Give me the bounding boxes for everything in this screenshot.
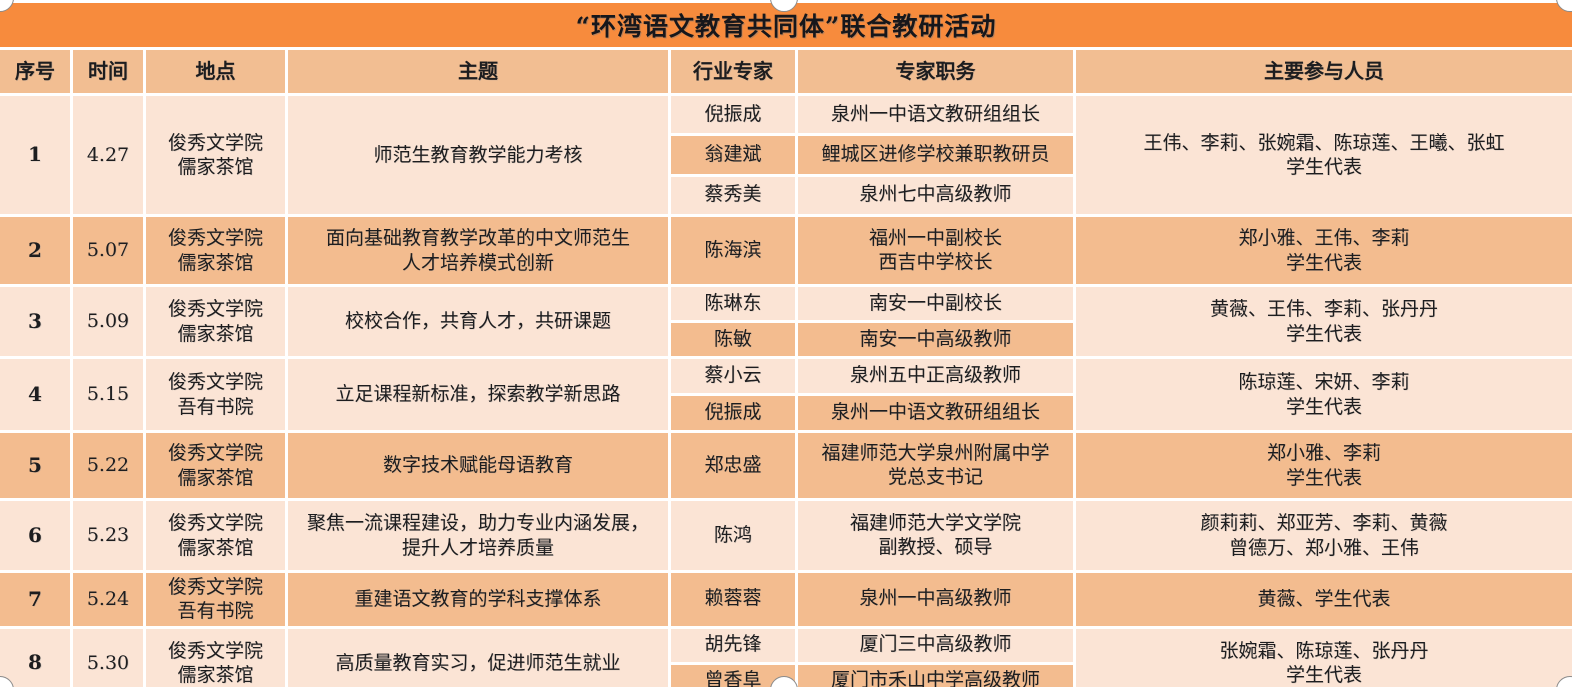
cell-participants[interactable]: 颜莉莉、郑亚芳、李莉、黄薇曾德万、郑小雅、王伟 — [1076, 501, 1572, 570]
cell-position: 福建师范大学泉州附属中学党总支书记 — [798, 433, 1073, 498]
table-row[interactable]: 35.09俊秀文学院儒家茶馆校校合作，共育人才，共研课题陈琳东陈敏南安一中副校长… — [0, 287, 1572, 356]
cell-time[interactable]: 4.27 — [73, 96, 143, 214]
cell-participants[interactable]: 王伟、李莉、张婉霜、陈琼莲、王曦、张虹学生代表 — [1076, 96, 1572, 214]
cell-topic[interactable]: 面向基础教育教学改革的中文师范生人才培养模式创新 — [288, 217, 668, 284]
cell-position: 南安一中副校长南安一中高级教师 — [798, 287, 1073, 356]
cell-topic[interactable]: 师范生教育教学能力考核 — [288, 96, 668, 214]
table-row[interactable]: 25.07俊秀文学院儒家茶馆面向基础教育教学改革的中文师范生人才培养模式创新陈海… — [0, 217, 1572, 284]
cell-no[interactable]: 5 — [0, 433, 70, 498]
cell-topic[interactable]: 高质量教育实习，促进师范生就业 — [288, 629, 668, 687]
cell-position-item[interactable]: 福州一中副校长西吉中学校长 — [798, 217, 1073, 284]
cell-expert-item[interactable]: 倪振成 — [671, 96, 795, 133]
cell-position-item[interactable]: 福建师范大学泉州附属中学党总支书记 — [798, 433, 1073, 498]
cell-position-item[interactable]: 泉州七中高级教师 — [798, 177, 1073, 214]
cell-position: 泉州一中语文教研组组长鲤城区进修学校兼职教研员泉州七中高级教师 — [798, 96, 1073, 214]
cell-no[interactable]: 8 — [0, 629, 70, 687]
cell-place[interactable]: 俊秀文学院吾有书院 — [146, 573, 285, 626]
cell-topic[interactable]: 聚焦一流课程建设，助力专业内涵发展，提升人才培养质量 — [288, 501, 668, 570]
cell-expert-item[interactable]: 倪振成 — [671, 396, 795, 430]
cell-no[interactable]: 6 — [0, 501, 70, 570]
spreadsheet-table-object: “环湾语文教育共同体”联合教研活动 序号时间地点主题行业专家专家职务主要参与人员… — [0, 0, 1572, 687]
cell-expert: 郑忠盛 — [671, 433, 795, 498]
cell-expert-item[interactable]: 蔡小云 — [671, 359, 795, 393]
cell-position-item[interactable]: 厦门市禾山中学高级教师 — [798, 665, 1073, 687]
cell-expert-item[interactable]: 陈鸿 — [671, 501, 795, 570]
cell-place[interactable]: 俊秀文学院儒家茶馆 — [146, 217, 285, 284]
cell-place[interactable]: 俊秀文学院吾有书院 — [146, 359, 285, 430]
cell-position-item[interactable]: 福建师范大学文学院副教授、硕导 — [798, 501, 1073, 570]
table-header-row: 序号时间地点主题行业专家专家职务主要参与人员 — [0, 50, 1572, 93]
cell-position: 福州一中副校长西吉中学校长 — [798, 217, 1073, 284]
cell-place[interactable]: 俊秀文学院儒家茶馆 — [146, 501, 285, 570]
cell-position-item[interactable]: 南安一中副校长 — [798, 287, 1073, 320]
cell-no[interactable]: 4 — [0, 359, 70, 430]
column-header-topic[interactable]: 主题 — [288, 50, 668, 93]
cell-participants[interactable]: 黄薇、王伟、李莉、张丹丹学生代表 — [1076, 287, 1572, 356]
table-row[interactable]: 75.24俊秀文学院吾有书院重建语文教育的学科支撑体系赖蓉蓉泉州一中高级教师黄薇… — [0, 573, 1572, 626]
cell-time[interactable]: 5.24 — [73, 573, 143, 626]
cell-participants[interactable]: 黄薇、学生代表 — [1076, 573, 1572, 626]
cell-time[interactable]: 5.22 — [73, 433, 143, 498]
cell-time[interactable]: 5.09 — [73, 287, 143, 356]
cell-no[interactable]: 3 — [0, 287, 70, 356]
cell-expert-item[interactable]: 胡先锋 — [671, 629, 795, 662]
cell-expert-item[interactable]: 陈琳东 — [671, 287, 795, 320]
cell-position: 厦门三中高级教师厦门市禾山中学高级教师 — [798, 629, 1073, 687]
cell-time[interactable]: 5.15 — [73, 359, 143, 430]
cell-expert-item[interactable]: 郑忠盛 — [671, 433, 795, 498]
cell-position-item[interactable]: 厦门三中高级教师 — [798, 629, 1073, 662]
cell-position-item[interactable]: 鲤城区进修学校兼职教研员 — [798, 136, 1073, 173]
cell-participants[interactable]: 郑小雅、李莉学生代表 — [1076, 433, 1572, 498]
cell-participants[interactable]: 张婉霜、陈琼莲、张丹丹学生代表 — [1076, 629, 1572, 687]
table-row[interactable]: 45.15俊秀文学院吾有书院立足课程新标准，探索教学新思路蔡小云倪振成泉州五中正… — [0, 359, 1572, 430]
cell-position: 泉州五中正高级教师泉州一中语文教研组组长 — [798, 359, 1073, 430]
cell-position-item[interactable]: 泉州五中正高级教师 — [798, 359, 1073, 393]
cell-expert: 陈琳东陈敏 — [671, 287, 795, 356]
cell-position-item[interactable]: 泉州一中语文教研组组长 — [798, 96, 1073, 133]
cell-position: 福建师范大学文学院副教授、硕导 — [798, 501, 1073, 570]
cell-topic[interactable]: 校校合作，共育人才，共研课题 — [288, 287, 668, 356]
column-header-place[interactable]: 地点 — [146, 50, 285, 93]
cell-position-item[interactable]: 泉州一中高级教师 — [798, 573, 1073, 626]
cell-expert-item[interactable]: 蔡秀美 — [671, 177, 795, 214]
column-header-expert[interactable]: 行业专家 — [671, 50, 795, 93]
cell-position-item[interactable]: 泉州一中语文教研组组长 — [798, 396, 1073, 430]
cell-no[interactable]: 7 — [0, 573, 70, 626]
column-header-position[interactable]: 专家职务 — [798, 50, 1073, 93]
cell-topic[interactable]: 立足课程新标准，探索教学新思路 — [288, 359, 668, 430]
cell-time[interactable]: 5.07 — [73, 217, 143, 284]
cell-expert-item[interactable]: 陈敏 — [671, 323, 795, 356]
cell-expert: 陈海滨 — [671, 217, 795, 284]
cell-expert: 赖蓉蓉 — [671, 573, 795, 626]
cell-expert-item[interactable]: 陈海滨 — [671, 217, 795, 284]
cell-place[interactable]: 俊秀文学院儒家茶馆 — [146, 433, 285, 498]
cell-topic[interactable]: 重建语文教育的学科支撑体系 — [288, 573, 668, 626]
cell-position: 泉州一中高级教师 — [798, 573, 1073, 626]
cell-expert-item[interactable]: 翁建斌 — [671, 136, 795, 173]
cell-time[interactable]: 5.23 — [73, 501, 143, 570]
cell-no[interactable]: 2 — [0, 217, 70, 284]
table-row[interactable]: 65.23俊秀文学院儒家茶馆聚焦一流课程建设，助力专业内涵发展，提升人才培养质量… — [0, 501, 1572, 570]
cell-time[interactable]: 5.30 — [73, 629, 143, 687]
cell-place[interactable]: 俊秀文学院儒家茶馆 — [146, 629, 285, 687]
table-grid: 序号时间地点主题行业专家专家职务主要参与人员 14.27俊秀文学院儒家茶馆师范生… — [0, 50, 1572, 687]
cell-expert-item[interactable]: 赖蓉蓉 — [671, 573, 795, 626]
column-header-participants[interactable]: 主要参与人员 — [1076, 50, 1572, 93]
cell-no[interactable]: 1 — [0, 96, 70, 214]
cell-topic[interactable]: 数字技术赋能母语教育 — [288, 433, 668, 498]
table-row[interactable]: 55.22俊秀文学院儒家茶馆数字技术赋能母语教育郑忠盛福建师范大学泉州附属中学党… — [0, 433, 1572, 498]
cell-expert: 蔡小云倪振成 — [671, 359, 795, 430]
cell-position-item[interactable]: 南安一中高级教师 — [798, 323, 1073, 356]
page-title: “环湾语文教育共同体”联合教研活动 — [576, 7, 997, 43]
cell-place[interactable]: 俊秀文学院儒家茶馆 — [146, 96, 285, 214]
cell-expert: 陈鸿 — [671, 501, 795, 570]
table-row[interactable]: 14.27俊秀文学院儒家茶馆师范生教育教学能力考核倪振成翁建斌蔡秀美泉州一中语文… — [0, 96, 1572, 214]
column-header-no[interactable]: 序号 — [0, 50, 70, 93]
column-header-time[interactable]: 时间 — [73, 50, 143, 93]
cell-place[interactable]: 俊秀文学院儒家茶馆 — [146, 287, 285, 356]
cell-expert: 倪振成翁建斌蔡秀美 — [671, 96, 795, 214]
cell-participants[interactable]: 郑小雅、王伟、李莉学生代表 — [1076, 217, 1572, 284]
cell-participants[interactable]: 陈琼莲、宋妍、李莉学生代表 — [1076, 359, 1572, 430]
